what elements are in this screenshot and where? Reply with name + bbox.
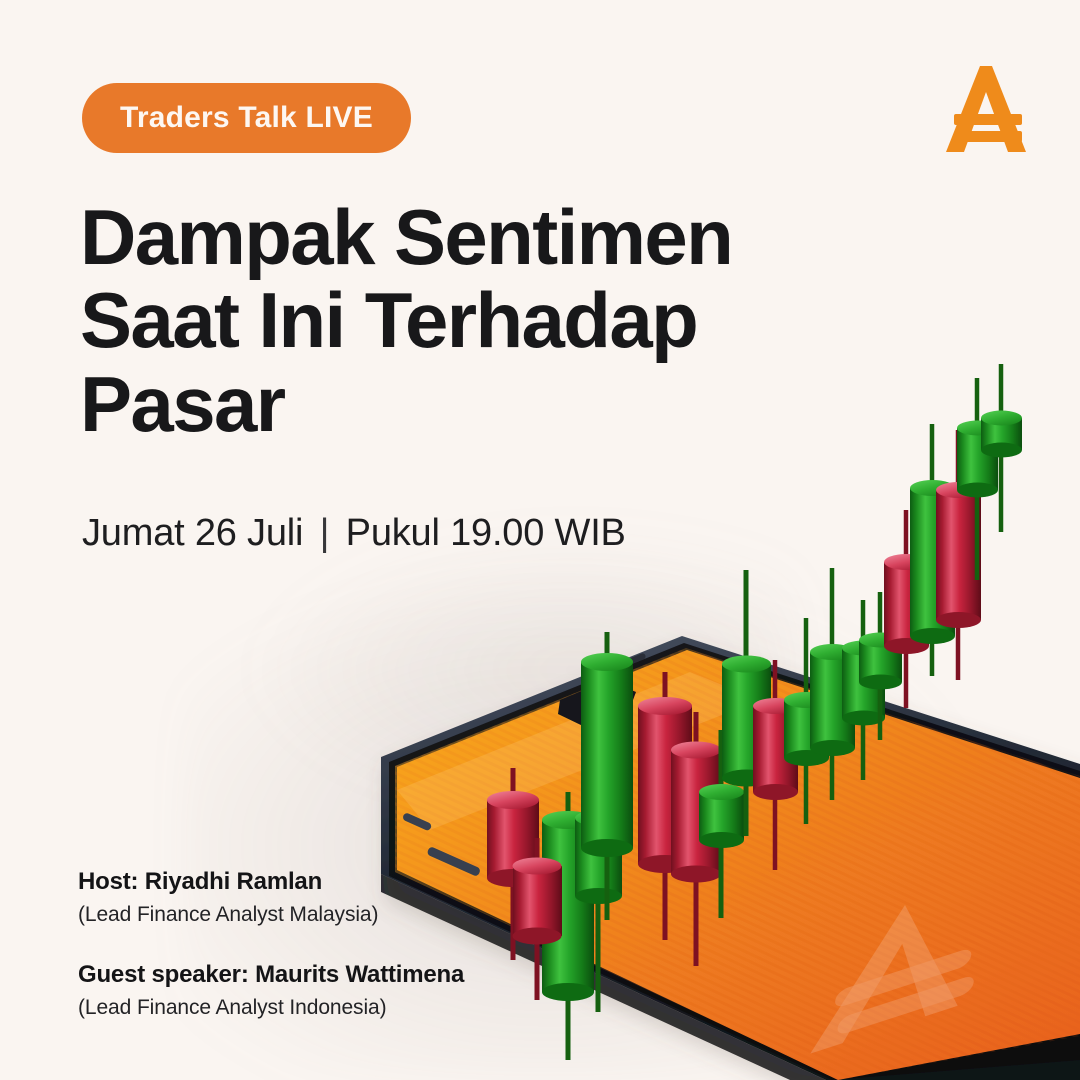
candle-5: [581, 632, 633, 920]
headline-line-3: Pasar: [80, 363, 840, 446]
candle-14: [859, 592, 902, 740]
live-badge[interactable]: Traders Talk LIVE: [82, 83, 411, 153]
screen-watermark-icon: [810, 875, 996, 1053]
candle-18: [957, 378, 998, 580]
candle-8: [699, 730, 744, 918]
candle-4: [575, 800, 622, 1012]
host-role: (Lead Finance Analyst Malaysia): [78, 900, 548, 930]
headline-line-1: Dampak Sentimen: [80, 196, 840, 279]
candle-19: [981, 364, 1022, 532]
headline-line-2: Saat Ini Terhadap: [80, 279, 840, 362]
schedule-time: Pukul 19.00 WIB: [346, 512, 626, 554]
credit-host: Host: Riyadhi Ramlan (Lead Finance Analy…: [78, 866, 548, 931]
host-name: Host: Riyadhi Ramlan: [78, 866, 548, 897]
schedule-date: Jumat 26 Juli: [82, 512, 303, 554]
guest-role: (Lead Finance Analyst Indonesia): [78, 993, 548, 1023]
candle-7: [671, 712, 721, 966]
poster-canvas: Traders Talk LIVE Dampak Sentimen Saat I…: [0, 0, 1080, 1080]
candle-2: [542, 792, 594, 1060]
candle-17: [936, 430, 981, 680]
candle-6: [638, 672, 692, 940]
candle-15: [884, 510, 929, 708]
candle-16: [910, 424, 955, 676]
credits-block: Host: Riyadhi Ramlan (Lead Finance Analy…: [78, 866, 548, 1051]
candle-9: [722, 570, 771, 836]
candle-10: [753, 660, 798, 870]
a-currency-logo-icon: [930, 52, 1042, 164]
candle-13: [842, 600, 885, 780]
schedule-separator: |: [314, 512, 336, 554]
schedule-line: Jumat 26 Juli | Pukul 19.00 WIB: [82, 512, 626, 555]
brand-logo: [930, 52, 1042, 164]
page-title: Dampak Sentimen Saat Ini Terhadap Pasar: [80, 196, 840, 446]
candlestick-series: [487, 364, 1022, 1060]
candle-12: [810, 568, 855, 800]
ambient-shadow-secondary: [240, 520, 800, 820]
guest-name: Guest speaker: Maurits Wattimena: [78, 959, 548, 990]
candle-11: [784, 618, 829, 824]
credit-guest: Guest speaker: Maurits Wattimena (Lead F…: [78, 959, 548, 1024]
